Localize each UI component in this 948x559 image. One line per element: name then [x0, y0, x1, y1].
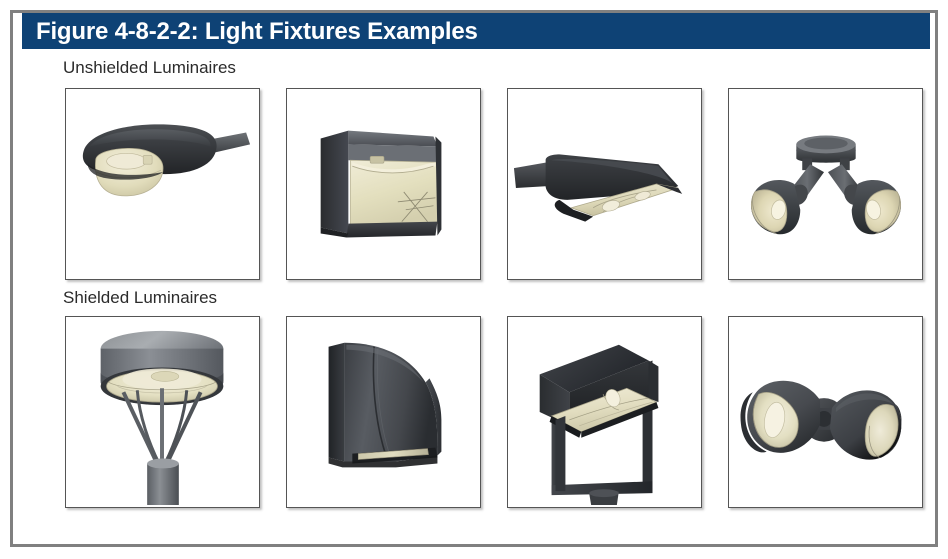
figure-cell: [286, 88, 481, 280]
figure-cell: [728, 316, 923, 508]
section-label-shielded: Shielded Luminaires: [63, 288, 217, 308]
round-post-top-luminaire-flat-lens-icon: [66, 317, 259, 507]
figure-frame: Figure 4-8-2-2: Light Fixtures Examples …: [10, 10, 938, 547]
cell-row-unshielded: [65, 88, 925, 282]
full-cutoff-wall-pack-icon: [287, 317, 480, 507]
figure-header: Figure 4-8-2-2: Light Fixtures Examples: [22, 13, 930, 49]
page-title: Figure 4-8-2-2: Light Fixtures Examples: [36, 18, 478, 46]
cobra-head-streetlight-drop-lens-icon: [66, 89, 259, 279]
section-label-unshielded: Unshielded Luminaires: [63, 58, 236, 78]
twin-head-floodlight-exposed-lamp-icon: [729, 89, 922, 279]
figure-cell: [65, 88, 260, 280]
figure-cell: [507, 88, 702, 280]
square-shoebox-flat-lens-yoke-icon: [508, 317, 701, 507]
figure-cell: [65, 316, 260, 508]
cell-row-shielded: [65, 316, 925, 510]
wall-pack-sag-lens-icon: [287, 89, 480, 279]
angled-area-light-exposed-lens-icon: [508, 89, 701, 279]
twin-head-shielded-floodlight-icon: [729, 317, 922, 507]
figure-cell: [507, 316, 702, 508]
figure-cell: [728, 88, 923, 280]
figure-cell: [286, 316, 481, 508]
